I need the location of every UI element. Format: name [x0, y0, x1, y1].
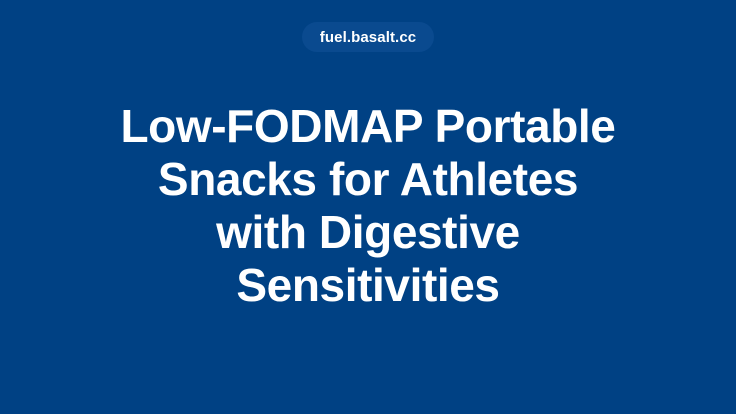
site-domain-badge: fuel.basalt.cc	[302, 22, 434, 52]
page-title-line-4: Sensitivities	[48, 259, 688, 312]
page-title-line-2: Snacks for Athletes	[48, 153, 688, 206]
page-title-line-1: Low-FODMAP Portable	[48, 100, 688, 153]
page-title-line-3: with Digestive	[48, 206, 688, 259]
slide-canvas: fuel.basalt.cc Low-FODMAP Portable Snack…	[0, 0, 736, 414]
badge-row: fuel.basalt.cc	[0, 22, 736, 52]
page-title: Low-FODMAP Portable Snacks for Athletes …	[48, 100, 688, 312]
